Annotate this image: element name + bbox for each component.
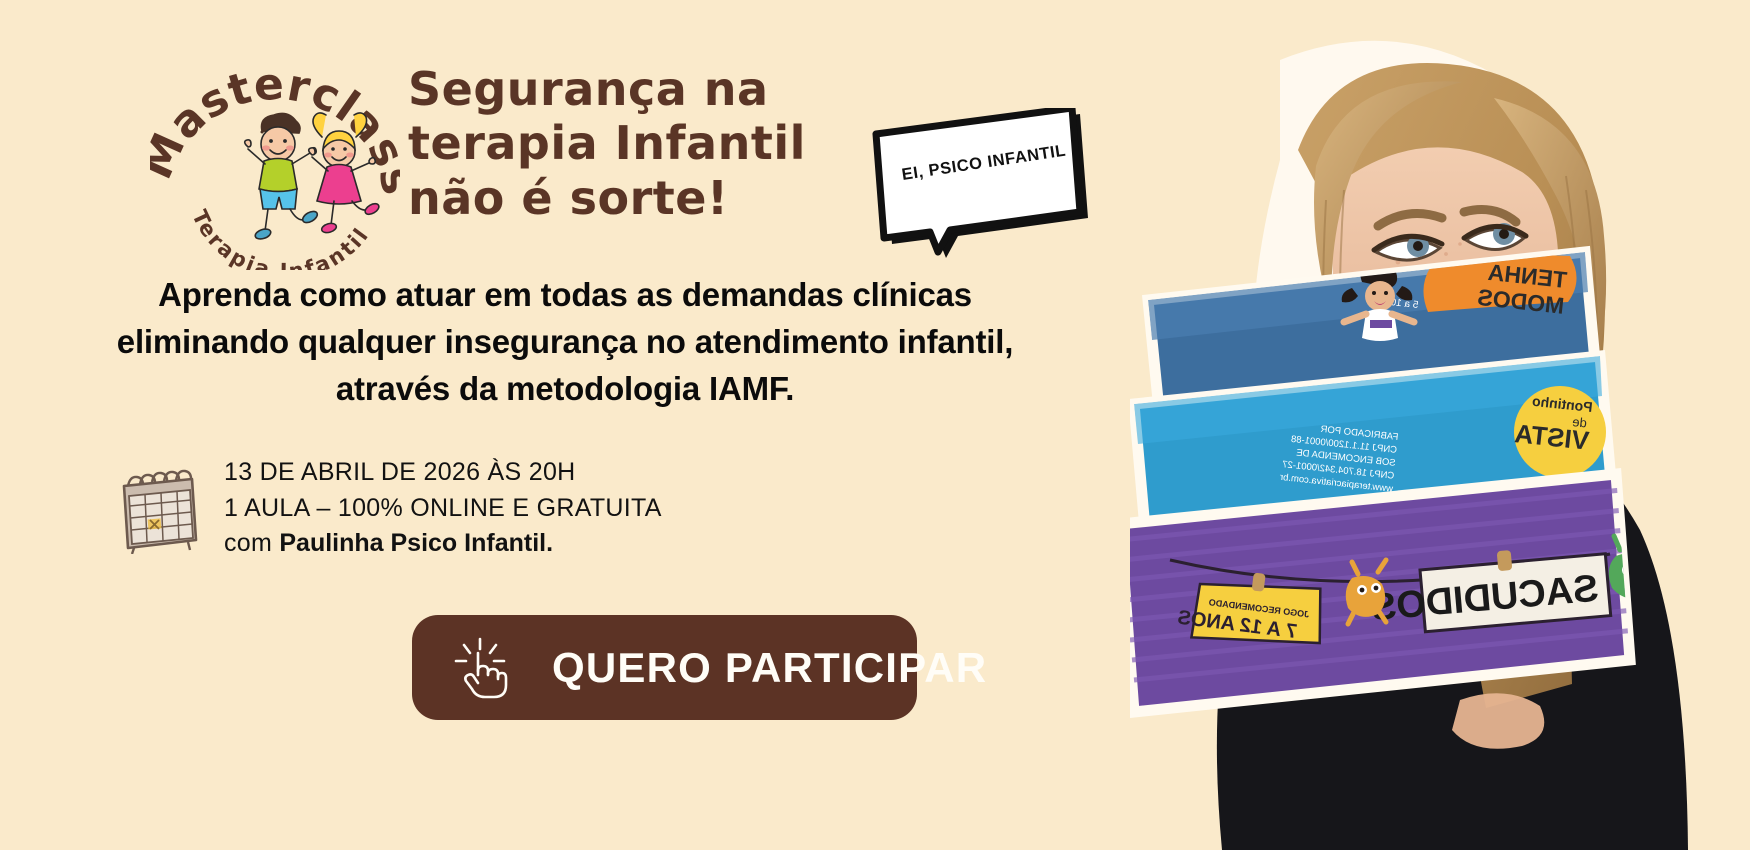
event-host-name: Paulinha Psico Infantil. xyxy=(279,529,553,557)
subhead-line-2: eliminando qualquer insegurança no atend… xyxy=(60,319,1070,366)
subheading: Aprenda como atuar em todas as demandas … xyxy=(60,272,1070,413)
event-host: com Paulinha Psico Infantil. xyxy=(224,526,662,562)
event-format: 1 AULA – 100% ONLINE E GRATUITA xyxy=(224,491,662,527)
subhead-line-1: Aprenda como atuar em todas as demandas … xyxy=(60,272,1070,319)
masterclass-logo: Masterclass Terapia Infantil xyxy=(150,45,400,270)
logo-bottom-text: Terapia Infantil xyxy=(187,206,374,270)
quero-participar-button[interactable]: QUERO PARTICIPAR xyxy=(412,615,917,720)
headline-line-2: terapia Infantil xyxy=(408,116,878,170)
click-hand-icon xyxy=(452,637,508,699)
event-details-text: 13 DE ABRIL DE 2026 ÀS 20H 1 AULA – 100%… xyxy=(224,455,662,562)
event-details: 13 DE ABRIL DE 2026 ÀS 20H 1 AULA – 100%… xyxy=(110,455,662,562)
headline-line-3: não é sorte! xyxy=(408,171,878,225)
svg-text:Terapia Infantil: Terapia Infantil xyxy=(187,206,374,270)
logo-boy-figure xyxy=(245,113,319,240)
promo-banner: Masterclass Terapia Infantil xyxy=(0,0,1750,850)
headline-line-1: Segurança na xyxy=(408,62,878,116)
calendar-icon xyxy=(110,462,206,554)
cta-label: QUERO PARTICIPAR xyxy=(552,644,987,692)
page-title: Segurança na terapia Infantil não é sort… xyxy=(408,62,878,225)
presenter-photo: TENHA MODOS 5 a 10 anos xyxy=(1130,0,1750,850)
event-date: 13 DE ABRIL DE 2026 ÀS 20H xyxy=(224,455,662,491)
subhead-line-3: através da metodologia IAMF. xyxy=(60,366,1070,413)
speech-bubble: EI, PSICO INFANTIL xyxy=(872,108,1090,258)
event-host-prefix: com xyxy=(224,529,279,557)
